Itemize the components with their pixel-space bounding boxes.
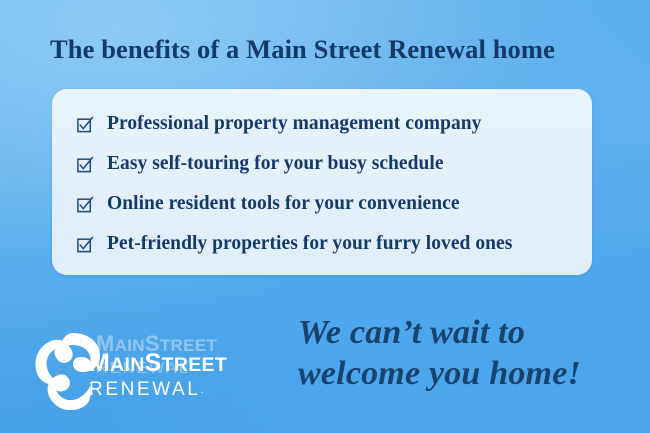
- list-item: Pet-friendly properties for your furry l…: [77, 224, 582, 264]
- promo-poster: The benefits of a Main Street Renewal ho…: [0, 0, 650, 433]
- benefit-label: Online resident tools for your convenien…: [107, 193, 460, 215]
- list-item: Easy self-touring for your busy schedule: [77, 144, 582, 184]
- brand-logo: MAINSTREET RENEWAL MAINSTREET RENEWAL.: [34, 328, 274, 413]
- checkbox-checked-icon: [77, 117, 93, 133]
- tagline-line-2: welcome you home!: [298, 353, 638, 394]
- page-title: The benefits of a Main Street Renewal ho…: [50, 33, 610, 65]
- brand-wordmark: MAINSTREET RENEWAL.: [89, 350, 227, 401]
- poster-footer: MAINSTREET RENEWAL MAINSTREET RENEWAL. W…: [0, 300, 650, 433]
- tagline-line-1: We can’t wait to: [298, 312, 638, 353]
- brand-wordmark-main: MAINSTREET: [89, 350, 227, 378]
- checkbox-checked-icon: [77, 197, 93, 213]
- tagline: We can’t wait to welcome you home!: [298, 312, 638, 394]
- benefit-label: Easy self-touring for your busy schedule: [107, 153, 444, 175]
- brand-wordmark-sub: RENEWAL.: [89, 379, 227, 401]
- benefit-label: Pet-friendly properties for your furry l…: [107, 233, 512, 255]
- list-item: Online resident tools for your convenien…: [77, 184, 582, 224]
- benefits-card: Professional property management company…: [52, 89, 592, 275]
- checkbox-checked-icon: [77, 237, 93, 253]
- checkbox-checked-icon: [77, 157, 93, 173]
- benefit-label: Professional property management company: [107, 113, 481, 135]
- list-item: Professional property management company: [77, 104, 582, 144]
- benefits-list: Professional property management company…: [77, 104, 582, 264]
